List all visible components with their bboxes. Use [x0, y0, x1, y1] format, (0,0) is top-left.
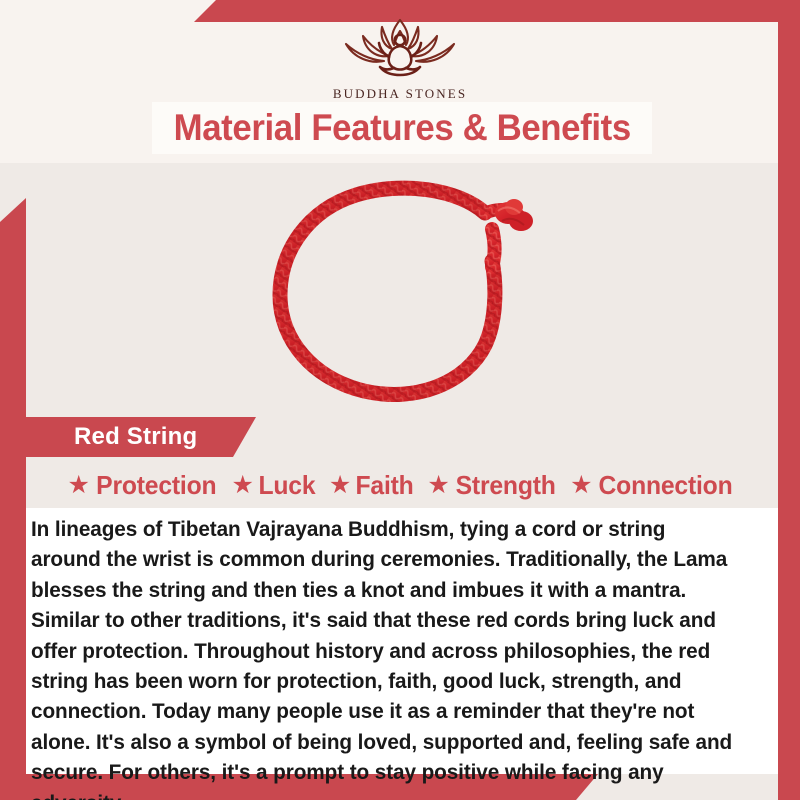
lotus-meditation-icon	[332, 14, 468, 82]
benefit-item: ★ Luck	[228, 470, 321, 501]
benefit-label: Connection	[599, 470, 733, 501]
star-icon: ★	[232, 473, 254, 498]
benefit-label: Protection	[96, 470, 216, 501]
section-label-banner: Red String	[26, 417, 256, 457]
star-icon: ★	[329, 473, 351, 498]
brand-wordmark: BUDDHA STONES	[0, 86, 800, 102]
benefit-label: Faith	[356, 470, 414, 501]
title-strip: Material Features & Benefits	[152, 102, 652, 154]
section-label: Red String	[74, 423, 197, 451]
benefit-item: ★ Protection	[64, 470, 224, 501]
benefit-label: Strength	[455, 470, 555, 501]
benefit-item: ★ Faith	[325, 470, 420, 501]
product-image-area	[26, 163, 778, 411]
star-icon: ★	[427, 473, 449, 498]
product-infographic: BUDDHA STONES Material Features & Benefi…	[0, 0, 800, 800]
page-title: Material Features & Benefits	[173, 107, 630, 149]
frame-right-bar	[778, 0, 800, 800]
benefit-item: ★ Connection	[566, 470, 740, 501]
brand-header: BUDDHA STONES	[0, 14, 800, 102]
description-panel: In lineages of Tibetan Vajrayana Buddhis…	[26, 508, 778, 774]
benefit-item: ★ Strength	[423, 470, 562, 501]
benefits-row: ★ Protection ★ Luck ★ Faith ★ Strength ★…	[26, 466, 778, 504]
description-text: In lineages of Tibetan Vajrayana Buddhis…	[31, 514, 734, 800]
benefit-label: Luck	[258, 470, 315, 501]
braided-red-string-bracelet-icon	[252, 169, 552, 409]
star-icon: ★	[68, 473, 90, 498]
star-icon: ★	[570, 473, 592, 498]
